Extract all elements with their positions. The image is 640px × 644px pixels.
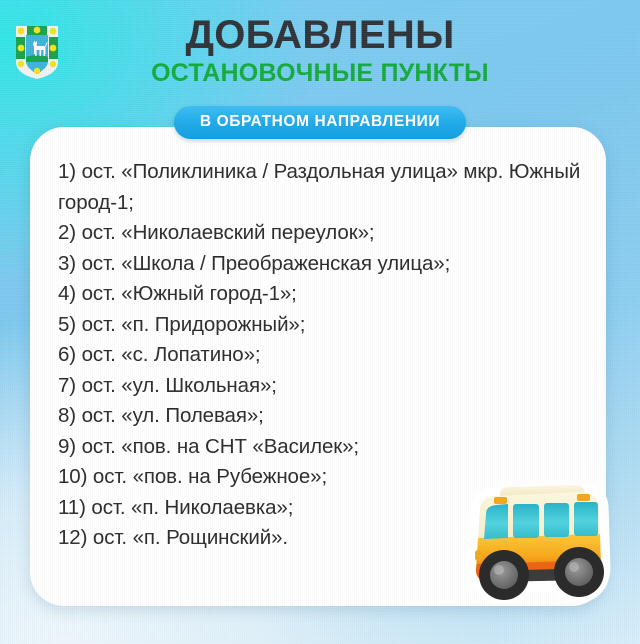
list-item: 4) ост. «Южный город-1»; [58, 279, 588, 310]
bus-icon [452, 472, 620, 604]
poster-canvas: ДОБАВЛЕНЫ ОСТАНОВОЧНЫЕ ПУНКТЫ В ОБРАТНОМ… [0, 0, 640, 644]
badge-container: В ОБРАТНОМ НАПРАВЛЕНИИ [0, 106, 640, 139]
list-item: 6) ост. «с. Лопатино»; [58, 340, 588, 371]
list-item: 8) ост. «ул. Полевая»; [58, 401, 588, 432]
list-item: 9) ост. «пов. на СНТ «Василек»; [58, 432, 588, 463]
page-subtitle: ОСТАНОВОЧНЫЕ ПУНКТЫ [0, 56, 640, 88]
list-item: 2) ост. «Николаевский переулок»; [58, 218, 588, 249]
list-item: 5) ост. «п. Придорожный»; [58, 310, 588, 341]
list-item: 3) ост. «Школа / Преображенская улица»; [58, 249, 588, 280]
list-item: 7) ост. «ул. Школьная»; [58, 371, 588, 402]
page-title: ДОБАВЛЕНЫ [0, 0, 640, 56]
list-item: 1) ост. «Поликлиника / Раздольная улица»… [58, 157, 588, 218]
direction-badge: В ОБРАТНОМ НАПРАВЛЕНИИ [174, 106, 466, 139]
header: ДОБАВЛЕНЫ ОСТАНОВОЧНЫЕ ПУНКТЫ [0, 0, 640, 88]
